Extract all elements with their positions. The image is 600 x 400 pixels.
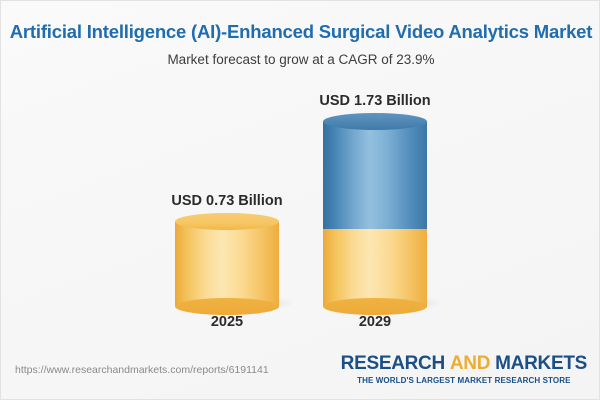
logo-tagline: THE WORLD'S LARGEST MARKET RESEARCH STOR… [341, 376, 587, 385]
logo-word-and: AND [450, 353, 490, 374]
bar-segment-growth [323, 121, 427, 229]
bar-group-2025: USD 0.73 Billion 2025 [147, 1, 307, 346]
chart-footer: https://www.researchandmarkets.com/repor… [1, 344, 600, 399]
bar-cylinder-2025 [175, 221, 279, 306]
logo-word-research: RESEARCH [341, 353, 445, 374]
chart-plot-area: USD 0.73 Billion 2025 USD 1.73 Billion [1, 1, 600, 346]
cylinder-top-cap [175, 213, 279, 230]
logo-wordmark: RESEARCHANDMARKETS [341, 354, 587, 373]
bar-segment-base [175, 221, 279, 306]
category-label-2025: 2025 [147, 314, 307, 330]
logo-word-markets: MARKETS [495, 353, 587, 374]
cylinder-top-cap [323, 113, 427, 130]
value-label-2025: USD 0.73 Billion [147, 193, 307, 209]
chart-card: Artificial Intelligence (AI)-Enhanced Su… [0, 0, 600, 400]
report-url-link[interactable]: https://www.researchandmarkets.com/repor… [15, 364, 269, 376]
cylinder-body [323, 121, 427, 229]
value-label-2029: USD 1.73 Billion [295, 93, 455, 109]
cylinder-bottom-cap [323, 298, 427, 315]
cylinder-body [323, 221, 427, 306]
bar-segment-base [323, 221, 427, 306]
category-label-2029: 2029 [295, 314, 455, 330]
research-and-markets-logo[interactable]: RESEARCHANDMARKETS THE WORLD'S LARGEST M… [341, 354, 587, 385]
bar-group-2029: USD 1.73 Billion 2029 [295, 1, 455, 346]
bar-cylinder-2029 [323, 121, 427, 306]
cylinder-body [175, 221, 279, 306]
cylinder-bottom-cap [175, 298, 279, 315]
